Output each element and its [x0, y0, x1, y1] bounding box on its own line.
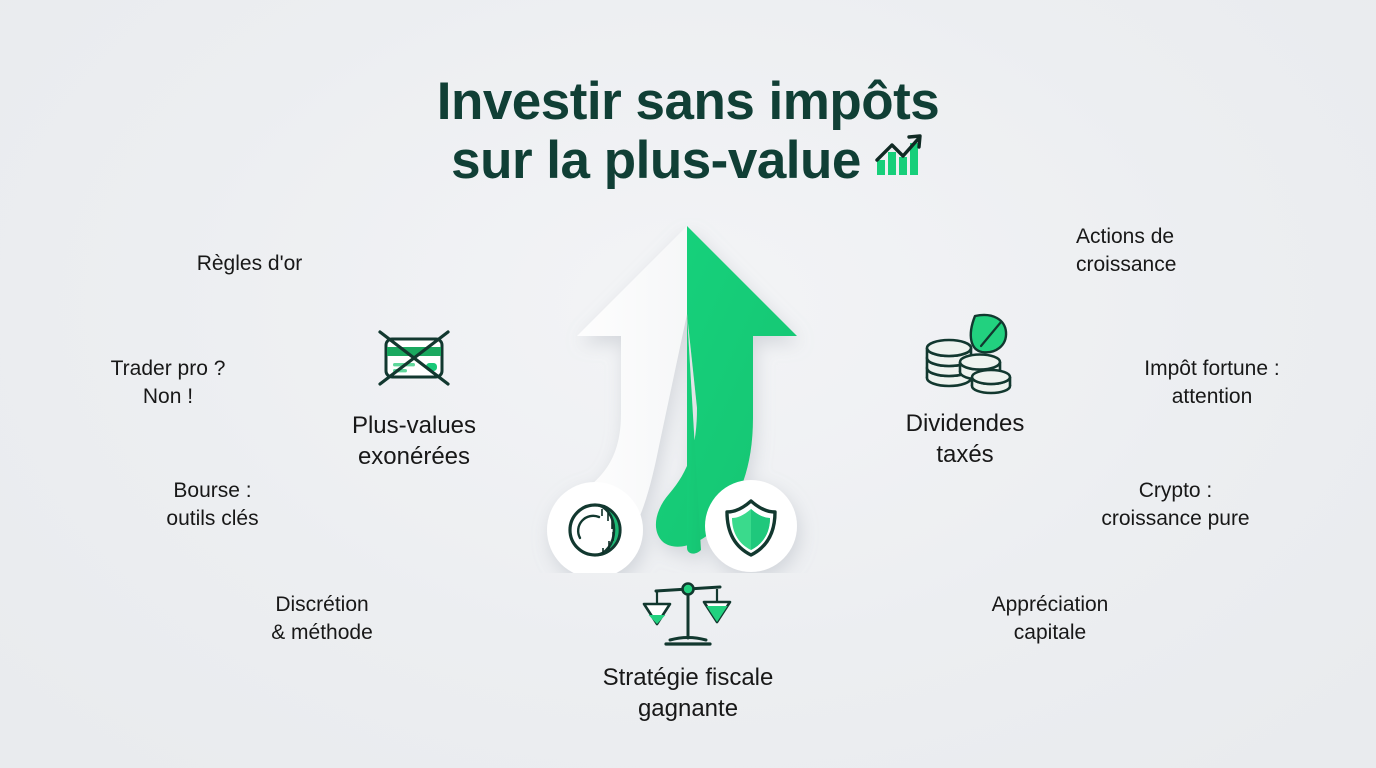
upward-growth-arrow	[529, 218, 849, 573]
balance-scales-icon	[573, 578, 803, 650]
feature-strategie-fiscale: Stratégie fiscale gagnante	[573, 578, 803, 724]
coin-icon	[570, 505, 620, 555]
side-label-trader-pro: Trader pro ? Non !	[68, 355, 268, 410]
feature-label-dividendes: Dividendes taxés	[850, 408, 1080, 470]
side-label-appreciation: Appréciation capitale	[950, 591, 1150, 646]
feature-dividendes-taxes: Dividendes taxés	[850, 310, 1080, 470]
side-label-regles-dor: Règles d'or	[152, 250, 347, 278]
feature-label-plus-values: Plus-values exonérées	[299, 410, 529, 472]
coins-with-leaf-icon	[850, 310, 1080, 396]
credit-card-crossed-out-icon	[299, 318, 529, 398]
infographic-canvas: Investir sans impôts sur la plus-value R…	[0, 0, 1376, 768]
feature-label-strategie: Stratégie fiscale gagnante	[573, 662, 803, 724]
chart-increasing-emoji	[873, 131, 925, 190]
feature-plus-values-exonerees: Plus-values exonérées	[299, 318, 529, 472]
side-label-bourse: Bourse : outils clés	[110, 477, 315, 532]
side-label-discretion: Discrétion & méthode	[222, 591, 422, 646]
side-label-actions-croissance: Actions de croissance	[1076, 223, 1306, 278]
side-label-crypto: Crypto : croissance pure	[1068, 477, 1283, 532]
side-label-impot-fortune: Impôt fortune : attention	[1112, 355, 1312, 410]
page-title: Investir sans impôts sur la plus-value	[0, 72, 1376, 191]
title-line-2-wrap: sur la plus-value	[451, 131, 925, 190]
title-line-1: Investir sans impôts	[437, 72, 940, 131]
title-line-2: sur la plus-value	[451, 131, 861, 190]
